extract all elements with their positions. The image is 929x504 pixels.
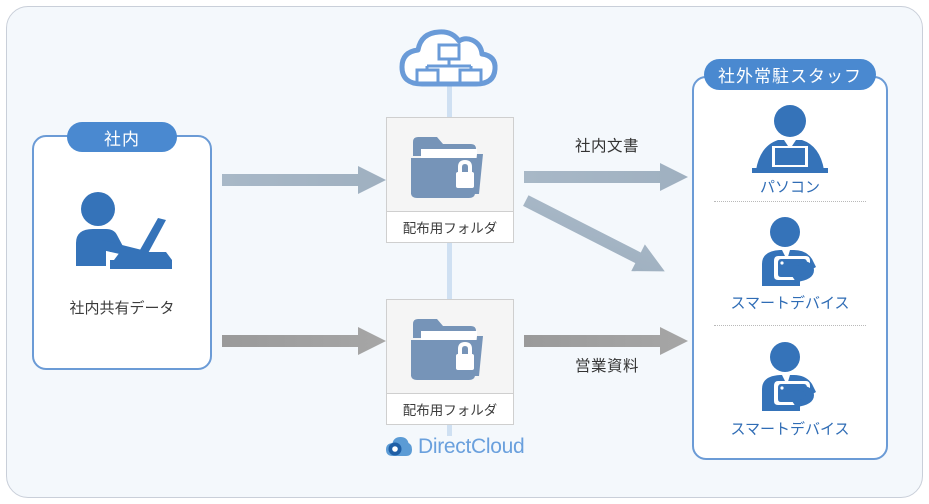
arrow-left-to-bottom-folder (222, 324, 388, 358)
pc-item-label: パソコン (692, 176, 888, 197)
smart-device-item-2-label: スマートデバイス (692, 418, 888, 439)
person-at-laptop-icon (62, 188, 182, 278)
internal-panel-badge-label: 社内 (104, 125, 140, 150)
smart-device-item-1-label: スマートデバイス (692, 292, 888, 313)
distribution-folder-top: 配布用フォルダ (386, 117, 514, 243)
directcloud-logo-text: DirectCloud (418, 435, 524, 459)
distribution-folder-top-label: 配布用フォルダ (387, 211, 513, 242)
distribution-folder-bottom-label: 配布用フォルダ (387, 393, 513, 424)
person-with-tablet-icon (756, 216, 826, 288)
staff-divider-2 (714, 325, 866, 326)
person-with-pc-icon (748, 104, 832, 176)
directcloud-logo-icon (385, 435, 413, 459)
locked-folder-icon (409, 314, 493, 384)
internal-panel-badge: 社内 (67, 122, 177, 152)
internal-data-label: 社内共有データ (32, 297, 212, 318)
arrow-bottom-folder-to-smart-device (524, 324, 690, 358)
person-with-tablet-icon (756, 341, 826, 413)
folder-to-folder-connector (447, 242, 452, 304)
locked-folder-icon (409, 132, 493, 202)
staff-divider-1 (714, 201, 866, 202)
directcloud-logo: DirectCloud (385, 435, 524, 459)
arrow-label-internal-document: 社内文書 (524, 134, 690, 156)
distribution-folder-bottom: 配布用フォルダ (386, 299, 514, 425)
arrow-top-folder-to-pc (524, 160, 690, 194)
arrow-label-sales-material: 営業資料 (524, 354, 690, 376)
diagram-canvas: 社内 社内共有データ (0, 0, 929, 504)
external-staff-panel-badge-label: 社外常駐スタッフ (718, 62, 862, 87)
external-staff-panel-badge: 社外常駐スタッフ (704, 59, 876, 90)
arrow-left-to-top-folder (222, 163, 388, 197)
cloud-network-icon (396, 26, 500, 88)
arrow-top-folder-to-smart-device (524, 192, 686, 276)
